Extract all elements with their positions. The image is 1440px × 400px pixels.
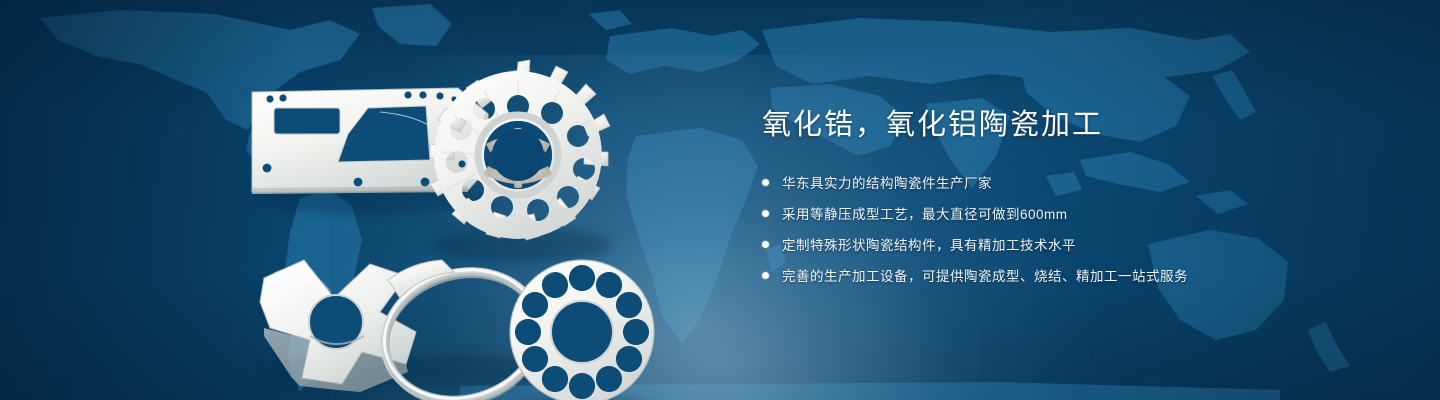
list-item: 定制特殊形状陶瓷结构件，具有精加工技术水平 [762, 233, 1362, 256]
ceramic-products-image [230, 40, 710, 385]
list-item: 采用等静压成型工艺，最大直径可做到600mm [762, 202, 1362, 225]
list-item-label: 华东具实力的结构陶瓷件生产厂家 [782, 172, 992, 192]
bullet-dot-icon [762, 210, 769, 217]
ceramic-vaned-impeller [430, 60, 610, 240]
promo-banner: 氧化锆，氧化铝陶瓷加工 华东具实力的结构陶瓷件生产厂家 采用等静压成型工艺，最大… [0, 0, 1440, 400]
list-item-label: 定制特殊形状陶瓷结构件，具有精加工技术水平 [782, 234, 1076, 254]
feature-list: 华东具实力的结构陶瓷件生产厂家 采用等静压成型工艺，最大直径可做到600mm 定… [762, 171, 1362, 287]
list-item: 完善的生产加工设备，可提供陶瓷成型、烧结、精加工一站式服务 [762, 264, 1362, 287]
list-item-label: 完善的生产加工设备，可提供陶瓷成型、烧结、精加工一站式服务 [782, 265, 1188, 285]
bullet-dot-icon [762, 272, 769, 279]
list-item: 华东具实力的结构陶瓷件生产厂家 [762, 171, 1362, 194]
page-title: 氧化锆，氧化铝陶瓷加工 [762, 108, 1362, 143]
list-item-label: 采用等静压成型工艺，最大直径可做到600mm [782, 203, 1068, 223]
bullet-dot-icon [762, 241, 769, 248]
bullet-dot-icon [762, 179, 769, 186]
banner-text-block: 氧化锆，氧化铝陶瓷加工 华东具实力的结构陶瓷件生产厂家 采用等静压成型工艺，最大… [762, 108, 1362, 295]
ceramic-perforated-disc [510, 260, 654, 400]
